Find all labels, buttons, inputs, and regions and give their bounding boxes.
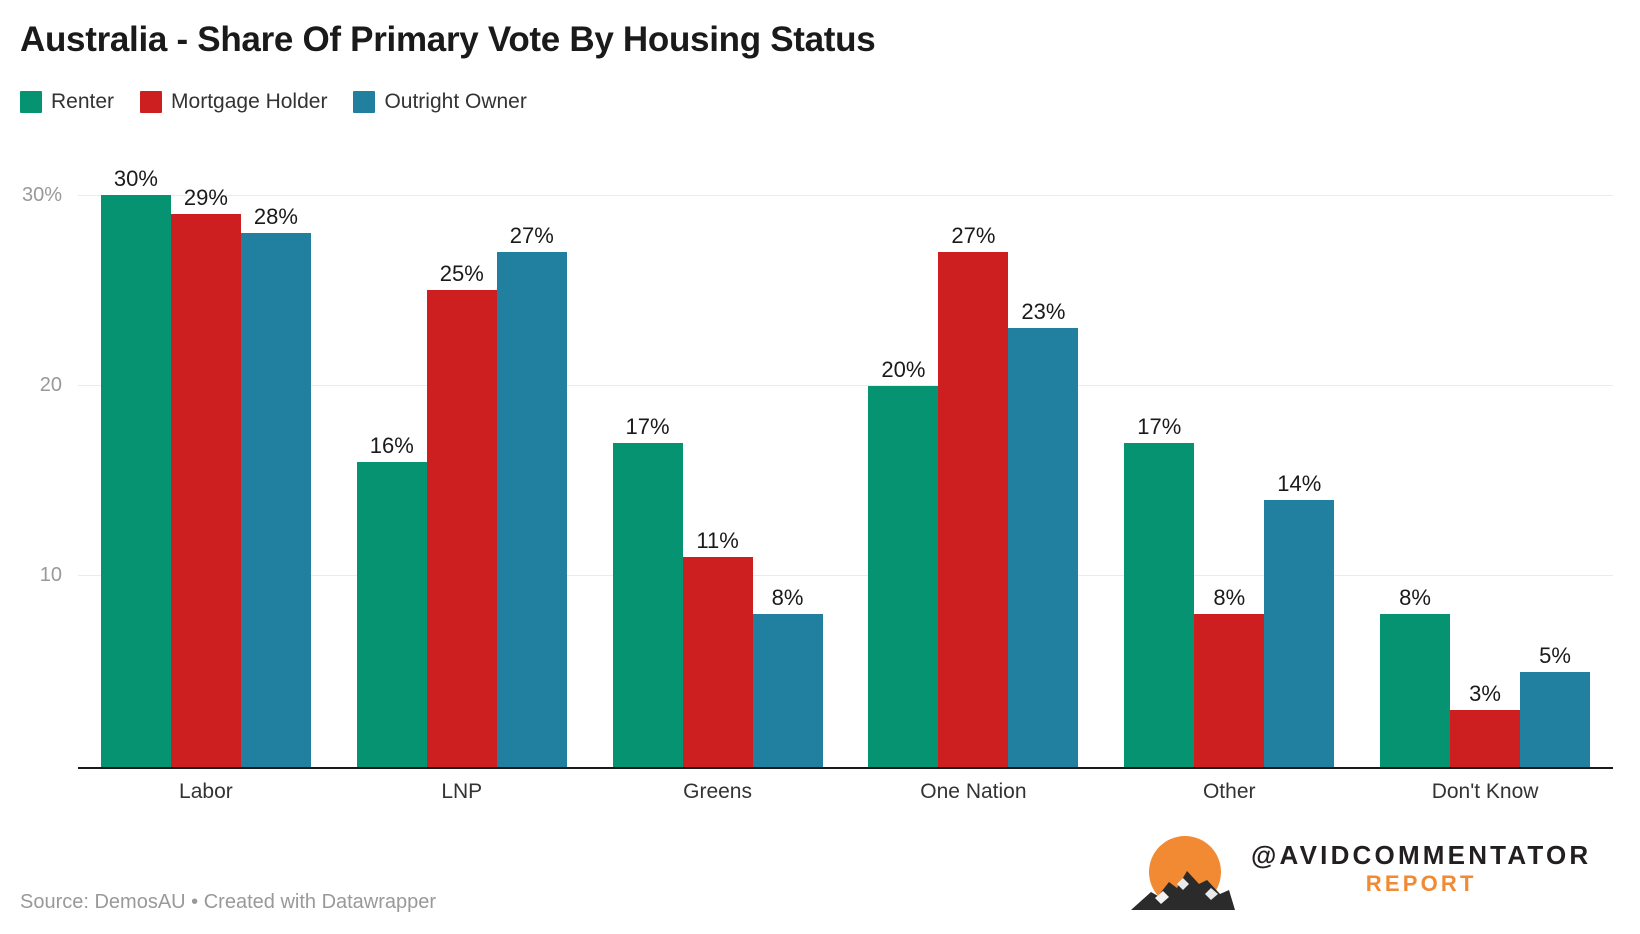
bar-column: 8% [1194, 27, 1264, 767]
bar-column: 17% [613, 27, 683, 767]
x-tick-label: Don't Know [1357, 778, 1613, 806]
bar-value-label: 8% [772, 586, 804, 610]
x-axis-labels: LaborLNPGreensOne NationOtherDon't Know [78, 778, 1613, 818]
bar-column: 30% [101, 27, 171, 767]
bar-column: 11% [683, 27, 753, 767]
x-tick-label: LNP [334, 778, 590, 806]
bar-value-label: 30% [114, 167, 158, 191]
chart-footer: Source: DemosAU • Created with Datawrapp… [0, 880, 1640, 934]
bar-group: 17%8%14% [1124, 27, 1334, 767]
bar-column: 8% [1380, 27, 1450, 767]
bar-value-label: 16% [370, 434, 414, 458]
y-tick-label: 30% [0, 185, 62, 205]
bar[interactable] [868, 386, 938, 767]
brand-report-label: REPORT [1366, 871, 1477, 897]
bar-value-label: 28% [254, 205, 298, 229]
bars-layer: 30%29%28%16%25%27%17%11%8%20%27%23%17%8%… [78, 0, 1613, 800]
bar-value-label: 27% [951, 224, 995, 248]
mountain-sun-logo-icon [1125, 822, 1237, 914]
bar[interactable] [1264, 500, 1334, 767]
bar-column: 3% [1450, 27, 1520, 767]
bar-group: 20%27%23% [868, 27, 1078, 767]
y-tick-label: 20 [0, 375, 62, 395]
bar-value-label: 27% [510, 224, 554, 248]
bar-value-label: 14% [1277, 472, 1321, 496]
bar-column: 27% [497, 27, 567, 767]
bar-value-label: 20% [881, 358, 925, 382]
bar[interactable] [101, 195, 171, 767]
bar[interactable] [1194, 614, 1264, 767]
plot-area: 30% 20 10 30%29%28%16%25%27%17%11%8%20%2… [0, 0, 1640, 800]
bar-column: 23% [1008, 27, 1078, 767]
bar[interactable] [171, 214, 241, 767]
bar[interactable] [683, 557, 753, 767]
bar-value-label: 17% [1137, 415, 1181, 439]
bar-value-label: 11% [696, 529, 738, 553]
x-tick-label: Labor [78, 778, 334, 806]
bar[interactable] [1124, 443, 1194, 767]
bar[interactable] [613, 443, 683, 767]
x-tick-label: One Nation [846, 778, 1102, 806]
bar-column: 14% [1264, 27, 1334, 767]
y-tick-label: 10 [0, 565, 62, 585]
bar[interactable] [357, 462, 427, 767]
bar-column: 29% [171, 27, 241, 767]
bar-value-label: 8% [1213, 586, 1245, 610]
bar-value-label: 23% [1021, 300, 1065, 324]
bar-column: 27% [938, 27, 1008, 767]
bar[interactable] [1450, 710, 1520, 767]
bar-value-label: 17% [626, 415, 670, 439]
bar-group: 16%25%27% [357, 27, 567, 767]
brand-logo: @AVIDCOMMENTATOR REPORT [1125, 822, 1591, 914]
brand-text: @AVIDCOMMENTATOR REPORT [1251, 839, 1591, 897]
bar-value-label: 8% [1399, 586, 1431, 610]
bar-value-label: 5% [1539, 644, 1571, 668]
x-tick-label: Other [1101, 778, 1357, 806]
bar-column: 20% [868, 27, 938, 767]
bar[interactable] [938, 252, 1008, 767]
bar-column: 16% [357, 27, 427, 767]
bar[interactable] [427, 290, 497, 767]
bar-column: 8% [753, 27, 823, 767]
bar-column: 5% [1520, 27, 1590, 767]
bar[interactable] [1008, 328, 1078, 767]
bar[interactable] [497, 252, 567, 767]
bar-value-label: 3% [1469, 682, 1501, 706]
bar-group: 8%3%5% [1380, 27, 1590, 767]
bar-value-label: 29% [184, 186, 228, 210]
bar[interactable] [1380, 614, 1450, 767]
source-note: Source: DemosAU • Created with Datawrapp… [20, 890, 436, 914]
bar-column: 28% [241, 27, 311, 767]
bar-column: 17% [1124, 27, 1194, 767]
x-tick-label: Greens [590, 778, 846, 806]
bar[interactable] [1520, 672, 1590, 767]
bar[interactable] [241, 233, 311, 767]
bar-group: 17%11%8% [613, 27, 823, 767]
brand-handle: @AVIDCOMMENTATOR [1251, 839, 1591, 871]
x-axis-line [78, 767, 1613, 769]
bar[interactable] [753, 614, 823, 767]
bar-column: 25% [427, 27, 497, 767]
bar-value-label: 25% [440, 262, 484, 286]
bar-group: 30%29%28% [101, 27, 311, 767]
